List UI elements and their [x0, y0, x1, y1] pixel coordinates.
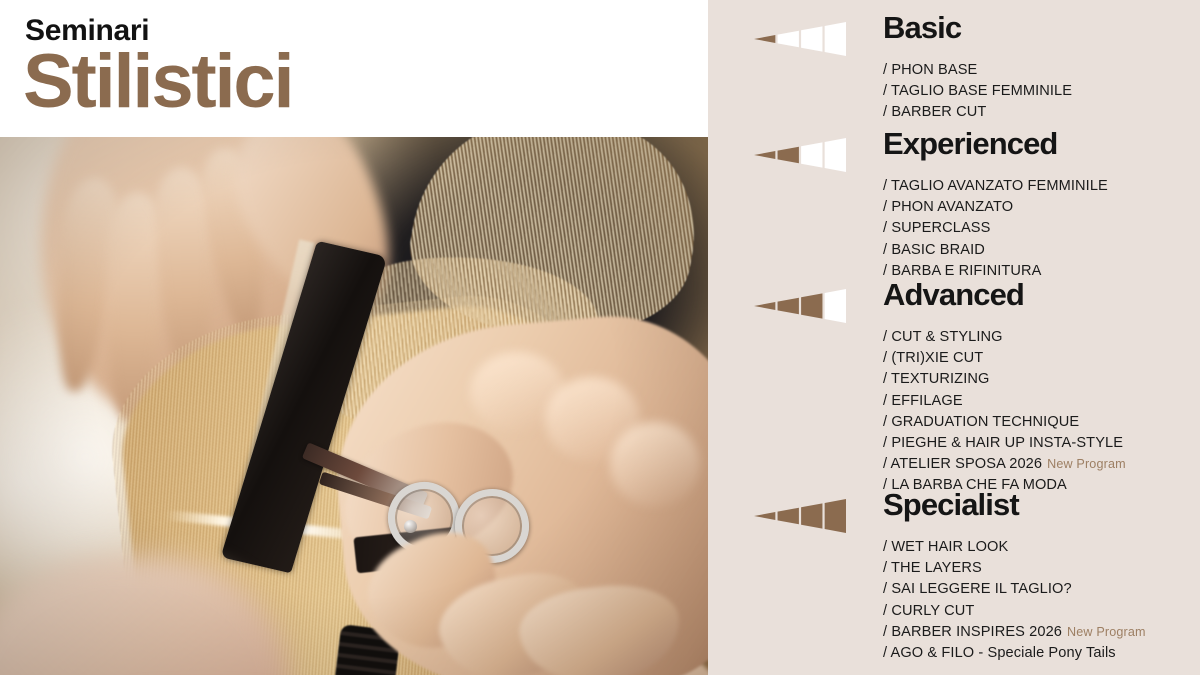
course-item[interactable]: / TEXTURIZING [883, 369, 1200, 390]
course-item-label: AGO & FILO - Speciale Pony Tails [891, 645, 1116, 661]
level-arrow-segment-2 [778, 508, 799, 525]
course-item[interactable]: / WET HAIR LOOK [883, 537, 1200, 558]
level-title-basic: Basic [883, 11, 961, 45]
course-item[interactable]: / AGO & FILO - Speciale Pony Tails [883, 643, 1200, 664]
hero-photo [0, 137, 708, 675]
course-item-label: (TRI)XIE CUT [891, 350, 983, 366]
course-item-label: BARBER CUT [891, 104, 986, 120]
level-header-advanced[interactable]: Advanced [708, 281, 1200, 325]
level-arrow-segment-4 [825, 289, 846, 323]
course-item-label: BARBER INSPIRES 2026 [891, 624, 1062, 640]
course-item[interactable]: / TAGLIO BASE FEMMINILE [883, 81, 1200, 102]
level-arrow-segment-2 [778, 31, 799, 48]
course-list-basic: / PHON BASE/ TAGLIO BASE FEMMINILE/ BARB… [708, 60, 1200, 124]
course-item-label: EFFILAGE [891, 393, 962, 409]
course-item-label: TAGLIO BASE FEMMINILE [891, 83, 1072, 99]
level-arrow-segment-4 [825, 138, 846, 172]
course-item[interactable]: / TAGLIO AVANZATO FEMMINILE [883, 176, 1200, 197]
course-item[interactable]: / PHON AVANZATO [883, 197, 1200, 218]
course-item-label: ATELIER SPOSA 2026 [891, 456, 1043, 472]
course-item-label: WET HAIR LOOK [891, 539, 1008, 555]
course-item[interactable]: / ATELIER SPOSA 2026New Program [883, 454, 1200, 475]
level-group-experienced: Experienced/ TAGLIO AVANZATO FEMMINILE/ … [708, 130, 1200, 282]
course-item-label: TEXTURIZING [891, 371, 989, 387]
level-title-advanced: Advanced [883, 278, 1024, 312]
new-program-badge: New Program [1047, 457, 1126, 471]
level-arrow-segment-2 [778, 147, 799, 164]
level-arrow-segment-1 [754, 151, 775, 159]
level-group-specialist: Specialist/ WET HAIR LOOK/ THE LAYERS/ S… [708, 491, 1200, 664]
course-item-label: BASIC BRAID [891, 242, 985, 258]
level-arrow-segment-3 [801, 503, 822, 528]
course-item[interactable]: / GRADUATION TECHNIQUE [883, 412, 1200, 433]
course-item[interactable]: / CURLY CUT [883, 601, 1200, 622]
level-arrow-segment-4 [825, 22, 846, 56]
level-arrow-icon-advanced [754, 289, 846, 323]
course-item[interactable]: / CUT & STYLING [883, 327, 1200, 348]
list-bullet-slash: / [883, 371, 891, 387]
course-item-label: TAGLIO AVANZATO FEMMINILE [891, 178, 1108, 194]
level-title-specialist: Specialist [883, 488, 1019, 522]
level-arrow-segment-3 [801, 142, 822, 167]
photo-vignette [0, 137, 708, 675]
course-item-label: SAI LEGGERE IL TAGLIO? [891, 581, 1071, 597]
slide-root: Seminari Stilistici Basic/ PHON BASE/ TA… [0, 0, 1200, 675]
left-column: Seminari Stilistici [0, 0, 708, 675]
level-arrow-icon [754, 289, 846, 323]
level-arrow-segment-4 [825, 499, 846, 533]
level-group-basic: Basic/ PHON BASE/ TAGLIO BASE FEMMINILE/… [708, 14, 1200, 124]
level-group-advanced: Advanced/ CUT & STYLING/ (TRI)XIE CUT/ T… [708, 281, 1200, 497]
course-item[interactable]: / THE LAYERS [883, 558, 1200, 579]
level-arrow-segment-1 [754, 302, 775, 310]
list-bullet-slash: / [883, 645, 891, 661]
level-arrow-segment-1 [754, 512, 775, 520]
level-header-specialist[interactable]: Specialist [708, 491, 1200, 535]
course-list-advanced: / CUT & STYLING/ (TRI)XIE CUT/ TEXTURIZI… [708, 327, 1200, 497]
level-arrow-segment-2 [778, 298, 799, 315]
course-item-label: THE LAYERS [891, 560, 982, 576]
course-item[interactable]: / BARBER INSPIRES 2026New Program [883, 622, 1200, 643]
course-item-label: GRADUATION TECHNIQUE [891, 414, 1079, 430]
course-item-label: PHON AVANZATO [891, 199, 1013, 215]
list-bullet-slash: / [883, 178, 891, 194]
course-item[interactable]: / PIEGHE & HAIR UP INSTA-STYLE [883, 433, 1200, 454]
level-arrow-icon [754, 22, 846, 56]
course-item[interactable]: / BARBER CUT [883, 102, 1200, 123]
level-arrow-icon [754, 138, 846, 172]
course-list-experienced: / TAGLIO AVANZATO FEMMINILE/ PHON AVANZA… [708, 176, 1200, 282]
level-arrow-icon-experienced [754, 138, 846, 172]
title-band: Seminari Stilistici [0, 0, 708, 137]
page-title: Stilistici [23, 44, 292, 120]
course-item-label: PHON BASE [891, 62, 977, 78]
course-item[interactable]: / SUPERCLASS [883, 218, 1200, 239]
course-item[interactable]: / SAI LEGGERE IL TAGLIO? [883, 579, 1200, 600]
new-program-badge: New Program [1067, 625, 1146, 639]
course-item-label: CUT & STYLING [891, 329, 1002, 345]
level-header-basic[interactable]: Basic [708, 14, 1200, 58]
course-item-label: CURLY CUT [891, 603, 974, 619]
level-arrow-icon-specialist [754, 499, 846, 533]
level-arrow-segment-3 [801, 26, 822, 51]
course-item[interactable]: / EFFILAGE [883, 391, 1200, 412]
level-arrow-segment-3 [801, 293, 822, 318]
levels-panel: Basic/ PHON BASE/ TAGLIO BASE FEMMINILE/… [708, 0, 1200, 675]
level-title-experienced: Experienced [883, 127, 1057, 161]
level-arrow-icon-basic [754, 22, 846, 56]
list-bullet-slash: / [883, 83, 891, 99]
course-item[interactable]: / BASIC BRAID [883, 240, 1200, 261]
course-item[interactable]: / PHON BASE [883, 60, 1200, 81]
level-arrow-segment-1 [754, 35, 775, 43]
level-arrow-icon [754, 499, 846, 533]
list-bullet-slash: / [883, 456, 891, 472]
list-bullet-slash: / [883, 560, 891, 576]
course-item-label: PIEGHE & HAIR UP INSTA-STYLE [891, 435, 1123, 451]
course-item-label: SUPERCLASS [891, 220, 990, 236]
course-list-specialist: / WET HAIR LOOK/ THE LAYERS/ SAI LEGGERE… [708, 537, 1200, 664]
level-header-experienced[interactable]: Experienced [708, 130, 1200, 174]
course-item[interactable]: / (TRI)XIE CUT [883, 348, 1200, 369]
